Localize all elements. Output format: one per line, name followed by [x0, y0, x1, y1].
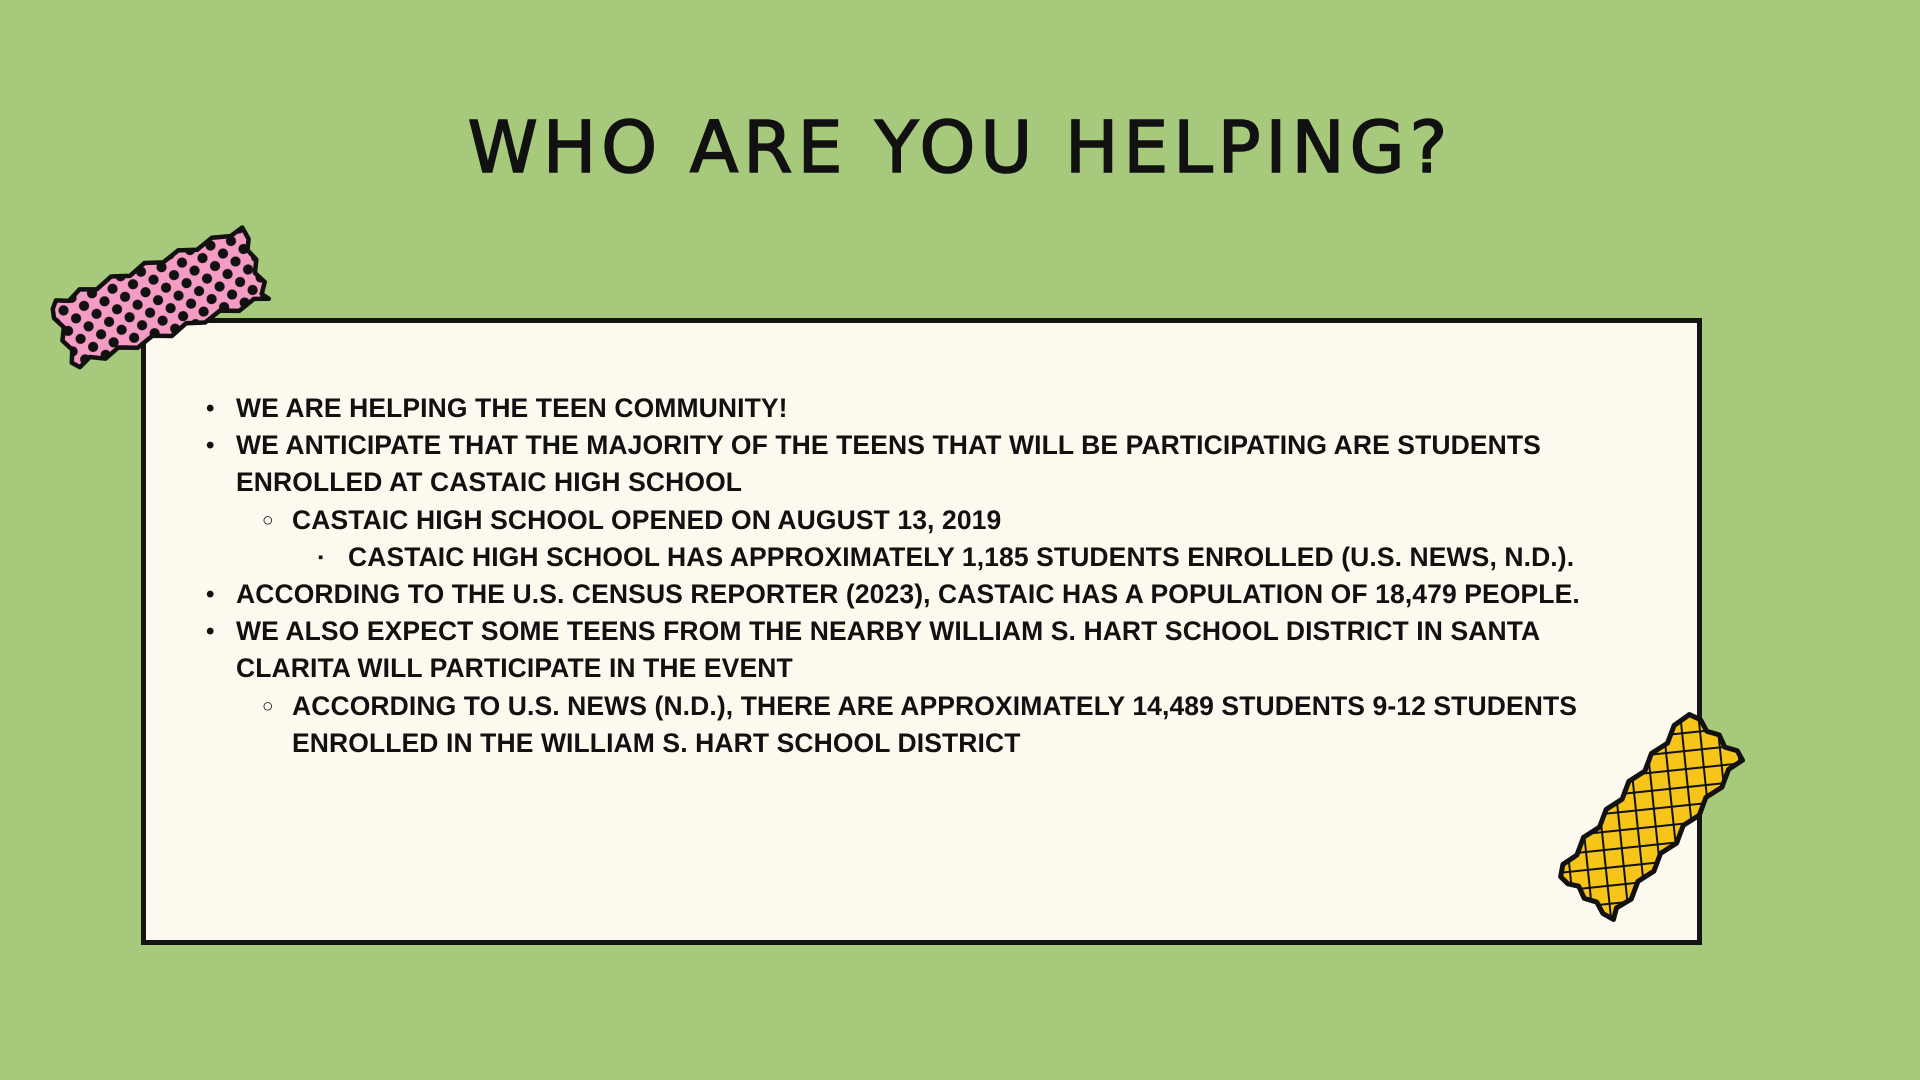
bullet-marker-icon — [206, 390, 236, 427]
list-item: WE ALSO EXPECT SOME TEENS FROM THE NEARB… — [206, 613, 1646, 687]
bullet-marker-icon — [206, 576, 236, 613]
list-item-label: CASTAIC HIGH SCHOOL HAS APPROXIMATELY 1,… — [348, 539, 1646, 576]
list-item: WE ARE HELPING THE TEEN COMMUNITY! — [206, 390, 1646, 427]
list-item-label: WE ALSO EXPECT SOME TEENS FROM THE NEARB… — [236, 613, 1646, 687]
slide-canvas: WHO ARE YOU HELPING? WE ARE HELPING THE … — [0, 0, 1920, 1080]
list-item: WE ANTICIPATE THAT THE MAJORITY OF THE T… — [206, 427, 1646, 501]
list-item-label: WE ANTICIPATE THAT THE MAJORITY OF THE T… — [236, 427, 1646, 501]
list-item-label: WE ARE HELPING THE TEEN COMMUNITY! — [236, 390, 1646, 427]
bullet-marker-icon — [318, 539, 348, 576]
bullet-marker-icon — [262, 502, 292, 539]
bullet-marker-icon — [206, 613, 236, 650]
list-item: CASTAIC HIGH SCHOOL HAS APPROXIMATELY 1,… — [318, 539, 1646, 576]
list-item-label: CASTAIC HIGH SCHOOL OPENED ON AUGUST 13,… — [292, 502, 1646, 539]
list-item: ACCORDING TO U.S. NEWS (N.D.), THERE ARE… — [262, 688, 1646, 762]
list-item-label: ACCORDING TO U.S. NEWS (N.D.), THERE ARE… — [292, 688, 1646, 762]
list-item-label: ACCORDING TO THE U.S. CENSUS REPORTER (2… — [236, 576, 1646, 613]
list-item: CASTAIC HIGH SCHOOL OPENED ON AUGUST 13,… — [262, 502, 1646, 539]
content-card: WE ARE HELPING THE TEEN COMMUNITY!WE ANT… — [141, 318, 1702, 945]
bullet-marker-icon — [206, 427, 236, 464]
bullet-list: WE ARE HELPING THE TEEN COMMUNITY!WE ANT… — [206, 390, 1646, 762]
list-item: ACCORDING TO THE U.S. CENSUS REPORTER (2… — [206, 576, 1646, 613]
page-title: WHO ARE YOU HELPING? — [0, 112, 1920, 183]
bullet-marker-icon — [262, 688, 292, 725]
